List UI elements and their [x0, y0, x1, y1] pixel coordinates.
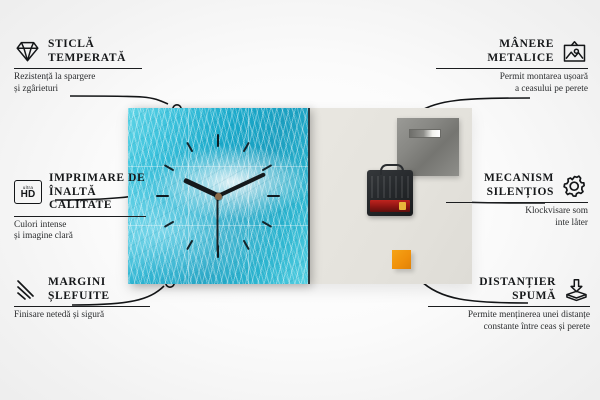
foam-spacer-part — [392, 250, 411, 269]
callout-divider — [428, 306, 590, 307]
callout-divider — [14, 68, 142, 69]
callout-title: DISTANȚIER SPUMĂ — [479, 276, 556, 303]
diamond-icon — [14, 40, 41, 63]
gear-icon — [561, 174, 588, 198]
callout-subtitle-line2: inte låter — [446, 218, 588, 229]
polished-edge-icon — [14, 278, 41, 301]
callout-silent-mechanism: MECANISM SILENȚIOS Klockvisare som inte … — [446, 172, 588, 229]
callout-subtitle-line1: Permite menținerea unei distanțe — [428, 310, 590, 321]
callout-subtitle-line2: a ceasului pe perete — [436, 84, 588, 95]
metal-hanger-plate — [397, 118, 459, 176]
callout-title: MECANISM SILENȚIOS — [484, 172, 554, 199]
callout-subtitle-line1: Klockvisare som — [446, 206, 588, 217]
ultra-hd-icon: ultra HD — [14, 180, 42, 204]
callout-title: MÂNERE METALICE — [487, 38, 554, 65]
clock-mechanism — [367, 170, 413, 216]
callout-divider — [446, 202, 588, 203]
callout-subtitle-line1: Rezistență la spargere — [14, 72, 144, 83]
callout-header: MÂNERE METALICE — [436, 38, 588, 65]
callout-header: MARGINI ȘLEFUITE — [14, 276, 150, 303]
leader-tempered-glass — [70, 96, 168, 104]
mechanism-loop — [380, 164, 404, 175]
callout-polished-edges: MARGINI ȘLEFUITE Finisare netedă și sigu… — [14, 276, 150, 322]
callout-foam-spacer: DISTANȚIER SPUMĂ Permite menținerea unei… — [428, 276, 590, 333]
press-down-icon — [563, 278, 590, 302]
callout-header: MECANISM SILENȚIOS — [446, 172, 588, 199]
clock-face-panel — [128, 108, 308, 284]
picture-hanger-icon — [561, 40, 588, 64]
callout-divider — [436, 68, 588, 69]
callout-divider — [14, 216, 146, 217]
callout-header: STICLĂ TEMPERATĂ — [14, 38, 144, 65]
callout-subtitle-line2: și zgârieturi — [14, 84, 144, 95]
callout-divider — [14, 306, 150, 307]
callout-title: STICLĂ TEMPERATĂ — [48, 38, 126, 65]
callout-subtitle-line1: Finisare netedă și sigură — [14, 310, 150, 321]
mechanism-body-detail — [371, 176, 409, 198]
callout-subtitle-line2: și imagine clară — [14, 231, 146, 242]
callout-hd-print: ultra HD IMPRIMARE DE ÎNALTĂ CALITATE Cu… — [14, 172, 146, 242]
mechanism-battery — [370, 200, 410, 212]
infographic-canvas: STICLĂ TEMPERATĂ Rezistență la spargere … — [0, 0, 600, 400]
callout-title: MARGINI ȘLEFUITE — [48, 276, 110, 303]
product-photo — [128, 108, 472, 284]
callout-subtitle-line1: Permit montarea ușoară — [436, 72, 588, 83]
clock-center-hub — [215, 193, 222, 200]
hanger-slot — [409, 129, 441, 138]
callout-tempered-glass: STICLĂ TEMPERATĂ Rezistență la spargere … — [14, 38, 144, 95]
callout-metal-handles: MÂNERE METALICE Permit montarea ușoară a… — [436, 38, 588, 95]
callout-title: IMPRIMARE DE ÎNALTĂ CALITATE — [49, 172, 146, 213]
callout-subtitle-line2: constante între ceas și perete — [428, 322, 590, 333]
callout-header: DISTANȚIER SPUMĂ — [428, 276, 590, 303]
callout-header: ultra HD IMPRIMARE DE ÎNALTĂ CALITATE — [14, 172, 146, 213]
callout-subtitle-line1: Culori intense — [14, 220, 146, 231]
